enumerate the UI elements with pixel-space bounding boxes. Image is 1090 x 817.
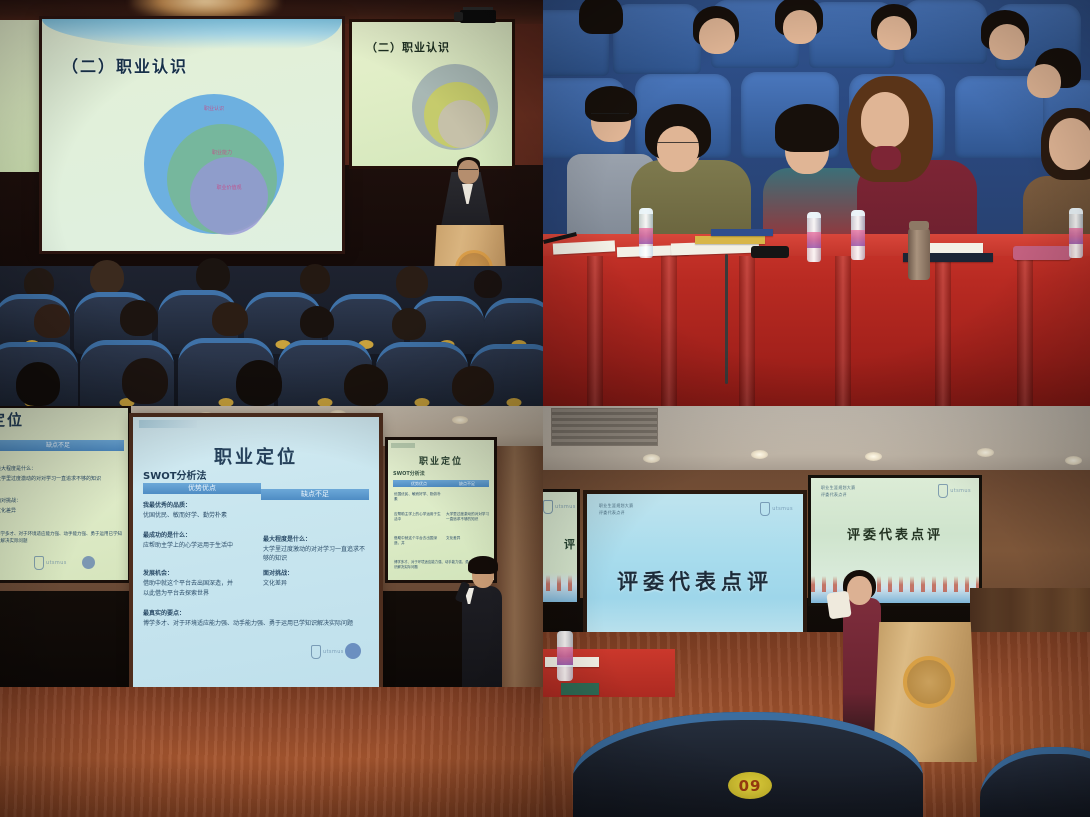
microphone (751, 246, 789, 258)
bottle-label (557, 647, 573, 665)
circle-inner: 职业价值观 (190, 157, 268, 235)
slide-title-secondary: （二）职业认识 (366, 39, 450, 55)
audience-face (783, 10, 817, 44)
ceiling-downlight (977, 448, 994, 457)
audience-face (877, 16, 911, 50)
audience-head (236, 360, 282, 406)
right-screen-cell: 借助中就这个平台去出国深造，并 (394, 536, 444, 547)
photo-collage: （二）职业认识 职业认识 职业能力 职业价值观 （二）职业认识 (0, 0, 1090, 817)
ceiling-downlight (751, 450, 768, 459)
score-sheet (695, 236, 765, 244)
left-screen-cell: 最大程度是什么： (0, 466, 124, 474)
projection-screen-left-partial: utsmus 评 (543, 492, 577, 602)
left-screen-title-fragment: 评 (564, 536, 575, 552)
water-bottle (557, 631, 573, 681)
university-logo-icon (345, 643, 361, 659)
slide-wave-decoration (42, 19, 342, 49)
audience-head (300, 264, 330, 294)
slide-header-text: 职业生涯规划大赛 评委代表点评 (821, 485, 855, 499)
ceiling-downlight (1065, 456, 1082, 465)
swot-cell: 发展机会： (143, 569, 259, 578)
skyline-graphic (543, 572, 577, 602)
swot-cell: 文化差异 (263, 579, 367, 588)
left-screen-cell: 博学多才、对于环境适应能力强、动手能力强、勇于运用已学知识解决实际问题 (0, 532, 126, 546)
judge-speaker-face (847, 576, 872, 605)
slide-header-line-1: 职业生涯规划大赛 (821, 485, 855, 492)
audience-head (392, 308, 426, 340)
glasses-icon (591, 113, 629, 119)
left-screen-cell: 文化差异 (0, 508, 124, 516)
wood-floor (0, 687, 543, 817)
right-screen-cell: 应帮助主学上的心学运用于生活中 (394, 512, 444, 523)
slide-header-line-2: 评委代表点评 (599, 510, 633, 517)
brand-logo: utsmus (938, 484, 971, 498)
slide-header-band (391, 443, 415, 448)
brand-mark-icon (34, 556, 44, 570)
projection-screen-main: 职业定位 SWOT分析法 优势优点 缺点不足 我最优秀的品质： 优国优民、敏而好… (133, 417, 379, 688)
brand-mark-icon (311, 645, 321, 659)
brand-logo: utsmus (760, 502, 793, 516)
panel-lecture-hall: （二）职业认识 职业认识 职业能力 职业价值观 （二）职业认识 (0, 0, 543, 406)
water-bottle (851, 210, 865, 260)
audience-face (699, 18, 735, 54)
slide-subtitle-swot: SWOT分析法 (143, 467, 207, 482)
swot-cell: 以此借为平台去探索世界 (143, 589, 265, 598)
panel-judge-comments: utsmus 评 职业生涯规划大赛 评委代表点评 utsmus 评委代表点评 职… (543, 406, 1090, 817)
audience-head (300, 306, 334, 338)
audience-head (120, 300, 158, 336)
ceiling-projector (460, 10, 496, 23)
swot-cell: 优国优民、敏而好学、勤劳朴素 (143, 511, 263, 520)
panel-swot-slide: 定位 缺点不足 最大程度是什么： 大学里过度激动的对对学习一直追求不够的知识 面… (0, 406, 543, 817)
right-screen-cell: 文化差异 (446, 536, 490, 541)
ceiling-downlight (865, 452, 882, 461)
drape-fold (739, 256, 755, 406)
right-screen-subtitle: SWOT分析法 (393, 470, 425, 477)
water-bottle (1069, 208, 1083, 258)
audience-head (196, 258, 230, 292)
brand-mark-icon (543, 500, 553, 514)
circle-outer-label: 职业认识 (144, 106, 284, 112)
left-screen-cell: 大学里过度激动的对对学习一直追求不够的知识 (0, 476, 124, 484)
brand-logo: utsmus (311, 645, 344, 659)
audience-head (344, 364, 388, 406)
slide-header-line-2: 评委代表点评 (821, 492, 855, 499)
seat-number-badge (219, 398, 234, 406)
swot-cell: 面对挑战： (263, 569, 367, 578)
bottle-label (851, 230, 865, 246)
folder (711, 229, 773, 236)
swot-header-weaknesses: 缺点不足 (261, 489, 369, 500)
drape-fold (935, 256, 951, 406)
brand-text: utsmus (772, 506, 793, 512)
ceiling-vent (551, 408, 658, 446)
right-screen-cell: 优国优民、敏而好学、勤劳朴素 (394, 492, 444, 503)
thermos-flask (908, 228, 930, 280)
bottle-label (807, 232, 821, 248)
left-screen-cell: 面对挑战： (0, 498, 124, 506)
swot-cell: 最成功的是什么： (143, 531, 259, 540)
brand-mark-icon (938, 484, 948, 498)
left-screen-table-header: 缺点不足 (0, 440, 124, 451)
projection-screen-right: 职业生涯规划大赛 评委代表点评 utsmus 评委代表点评 (811, 478, 979, 603)
right-screen-title: 职业定位 (388, 454, 494, 467)
seat-number-badge (415, 398, 430, 406)
brand-mark-icon (760, 502, 770, 516)
microphone-cable (725, 254, 728, 384)
audience-head (212, 302, 248, 336)
slide-title-career-awareness: （二）职业认识 (62, 53, 188, 77)
water-bottle (807, 212, 821, 262)
right-screen-header-weaknesses: 缺点不足 (445, 480, 489, 487)
seat-number-badge (507, 398, 522, 406)
brand-logo: utsmus (34, 556, 67, 570)
swot-cell: 博学多才、对于环境适应能力强、动手能力强、勇于运用已学知识解决实际问题 (143, 619, 369, 628)
projection-screen-left-partial: 定位 缺点不足 最大程度是什么： 大学里过度激动的对对学习一直追求不够的知识 面… (0, 408, 128, 580)
swot-cell: 最大程度是什么： (263, 535, 367, 544)
right-screen-header-strengths: 优势优点 (393, 480, 445, 487)
circle-inner-label: 职业价值观 (190, 185, 268, 191)
swot-cell: 借助中就这个平台去出国深造，并 (143, 579, 265, 588)
held-paper (826, 591, 851, 620)
audience-head (396, 266, 428, 298)
bottle-label (639, 228, 653, 244)
audience-head (579, 0, 623, 34)
right-screen-title: 评委代表点评 (811, 524, 979, 543)
audience-head (16, 362, 60, 406)
brand-logo: utsmus (543, 500, 576, 514)
audience-face (1027, 64, 1061, 98)
presenter-head (458, 160, 479, 184)
secondary-circle-inner (438, 100, 486, 148)
pencil-case (1013, 246, 1071, 260)
contestant-hair (468, 556, 498, 574)
drape-fold (661, 256, 677, 406)
audience-head (90, 260, 124, 294)
ceiling-downlight (452, 416, 468, 424)
audience-head (122, 358, 168, 404)
podium-seal-emblem (903, 656, 955, 708)
judge-face (861, 92, 909, 148)
slide-title-judge-comments: 评委代表点评 (587, 566, 803, 596)
slide-header-line-1: 职业生涯规划大赛 (599, 503, 633, 510)
audience-head (34, 304, 70, 338)
brand-text: utsmus (323, 649, 344, 655)
glasses-icon (657, 142, 699, 148)
slide-title-career-positioning: 职业定位 (133, 443, 379, 469)
brand-text: utsmus (555, 504, 576, 510)
seat-number-badge: 09 (728, 772, 772, 799)
audience-face (989, 24, 1025, 60)
swot-cell: 我最优秀的品质： (143, 501, 259, 510)
projection-screen-main: （二）职业认识 职业认识 职业能力 职业价值观 (42, 19, 342, 251)
water-bottle (639, 208, 653, 258)
right-screen-cell: 大学里过度激动的对对学习一直追求不够的知识 (446, 512, 490, 523)
ceiling-downlight (643, 454, 660, 463)
left-screen-title: 定位 (0, 409, 24, 430)
judge-face (1049, 118, 1090, 170)
folder (561, 683, 599, 695)
university-logo-icon (82, 556, 95, 569)
swot-header-strengths: 优势优点 (143, 483, 261, 494)
slide-header-text: 职业生涯规划大赛 评委代表点评 (599, 503, 633, 517)
bottle-label (1069, 228, 1083, 244)
slide-header-band (139, 420, 197, 428)
panel-judges-table (543, 0, 1090, 406)
seat-number-badge (318, 398, 333, 406)
swot-cell: 最真实的要点： (143, 609, 259, 618)
projection-screen-left-partial (0, 20, 42, 172)
judge-collar (871, 146, 901, 170)
swot-cell: 大学里过度激动的对对学习一直追求不够的知识 (263, 545, 369, 563)
auditorium-seat (613, 4, 701, 74)
glasses-icon (459, 169, 478, 175)
judge-hair (775, 104, 839, 152)
drape-fold (587, 256, 603, 406)
drape-fold (1017, 256, 1033, 406)
audience-head (474, 270, 502, 298)
projection-screen-right: （二）职业认识 (352, 22, 512, 166)
audience-head (452, 366, 494, 406)
brand-text: utsmus (46, 560, 67, 566)
judges-table-drape (543, 241, 1090, 406)
audience-section (0, 266, 543, 406)
brand-text: utsmus (950, 488, 971, 494)
swot-cell: 应帮助主学上的心学运用于生活中 (143, 541, 263, 550)
circle-middle-label: 职业能力 (167, 150, 277, 156)
drape-fold (835, 256, 851, 406)
